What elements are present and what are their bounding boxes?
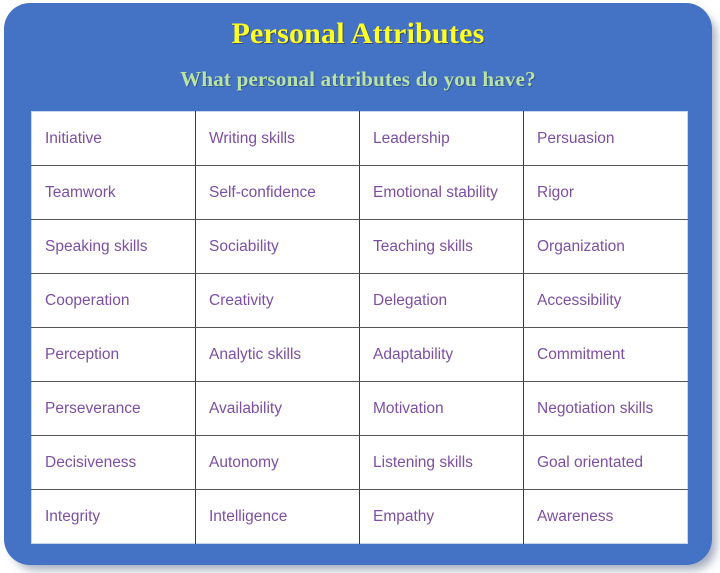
attribute-label: Listening skills bbox=[373, 453, 523, 473]
attribute-cell[interactable]: Integrity bbox=[32, 490, 196, 544]
attribute-cell[interactable]: Goal orientated bbox=[524, 436, 688, 490]
attribute-cell[interactable]: Intelligence bbox=[196, 490, 360, 544]
attribute-label: Cooperation bbox=[45, 291, 195, 311]
table-row: Perception Analytic skills Adaptability … bbox=[32, 328, 688, 382]
attribute-cell[interactable]: Writing skills bbox=[196, 112, 360, 166]
attributes-table: Initiative Writing skills Leadership Per… bbox=[31, 111, 688, 544]
attribute-cell[interactable]: Persuasion bbox=[524, 112, 688, 166]
attribute-label: Availability bbox=[209, 399, 359, 419]
table-row: Speaking skills Sociability Teaching ski… bbox=[32, 220, 688, 274]
slide-card: Personal Attributes What personal attrib… bbox=[4, 3, 712, 565]
attribute-label: Commitment bbox=[537, 345, 687, 365]
attribute-cell[interactable]: Initiative bbox=[32, 112, 196, 166]
attribute-label: Organization bbox=[537, 237, 687, 257]
attribute-cell[interactable]: Self-confidence bbox=[196, 166, 360, 220]
page-title: Personal Attributes bbox=[4, 17, 712, 51]
attribute-label: Leadership bbox=[373, 129, 523, 149]
attribute-label: Delegation bbox=[373, 291, 523, 311]
attribute-label: Teamwork bbox=[45, 183, 195, 203]
table-row: Teamwork Self-confidence Emotional stabi… bbox=[32, 166, 688, 220]
attribute-cell[interactable]: Accessibility bbox=[524, 274, 688, 328]
attribute-label: Emotional stability bbox=[373, 183, 523, 203]
attribute-cell[interactable]: Decisiveness bbox=[32, 436, 196, 490]
attribute-cell[interactable]: Speaking skills bbox=[32, 220, 196, 274]
table-row: Perseverance Availability Motivation Neg… bbox=[32, 382, 688, 436]
attribute-label: Rigor bbox=[537, 183, 687, 203]
attribute-cell[interactable]: Empathy bbox=[360, 490, 524, 544]
attribute-cell[interactable]: Negotiation skills bbox=[524, 382, 688, 436]
attribute-cell[interactable]: Motivation bbox=[360, 382, 524, 436]
page-subtitle: What personal attributes do you have? bbox=[4, 67, 712, 92]
attribute-cell[interactable]: Organization bbox=[524, 220, 688, 274]
attribute-label: Integrity bbox=[45, 507, 195, 527]
attribute-cell[interactable]: Perception bbox=[32, 328, 196, 382]
attribute-cell[interactable]: Availability bbox=[196, 382, 360, 436]
table-row: Cooperation Creativity Delegation Access… bbox=[32, 274, 688, 328]
attribute-cell[interactable]: Perseverance bbox=[32, 382, 196, 436]
attribute-label: Motivation bbox=[373, 399, 523, 419]
attribute-cell[interactable]: Cooperation bbox=[32, 274, 196, 328]
attribute-label: Negotiation skills bbox=[537, 399, 687, 419]
attribute-cell[interactable]: Teamwork bbox=[32, 166, 196, 220]
attribute-label: Adaptability bbox=[373, 345, 523, 365]
attribute-cell[interactable]: Autonomy bbox=[196, 436, 360, 490]
attribute-cell[interactable]: Analytic skills bbox=[196, 328, 360, 382]
attribute-label: Sociability bbox=[209, 237, 359, 257]
attribute-label: Self-confidence bbox=[209, 183, 359, 203]
attribute-label: Perseverance bbox=[45, 399, 195, 419]
attribute-label: Teaching skills bbox=[373, 237, 523, 257]
attribute-label: Persuasion bbox=[537, 129, 687, 149]
attribute-label: Creativity bbox=[209, 291, 359, 311]
attribute-cell[interactable]: Leadership bbox=[360, 112, 524, 166]
attribute-cell[interactable]: Rigor bbox=[524, 166, 688, 220]
attribute-label: Empathy bbox=[373, 507, 523, 527]
attribute-cell[interactable]: Emotional stability bbox=[360, 166, 524, 220]
attribute-cell[interactable]: Creativity bbox=[196, 274, 360, 328]
attribute-label: Perception bbox=[45, 345, 195, 365]
attribute-cell[interactable]: Sociability bbox=[196, 220, 360, 274]
attribute-cell[interactable]: Listening skills bbox=[360, 436, 524, 490]
attribute-label: Autonomy bbox=[209, 453, 359, 473]
table-row: Initiative Writing skills Leadership Per… bbox=[32, 112, 688, 166]
attributes-table-body: Initiative Writing skills Leadership Per… bbox=[32, 112, 688, 544]
attribute-cell[interactable]: Delegation bbox=[360, 274, 524, 328]
attribute-label: Writing skills bbox=[209, 129, 359, 149]
attribute-label: Decisiveness bbox=[45, 453, 195, 473]
attribute-label: Intelligence bbox=[209, 507, 359, 527]
attribute-label: Initiative bbox=[45, 129, 195, 149]
attribute-label: Goal orientated bbox=[537, 453, 687, 473]
attribute-label: Accessibility bbox=[537, 291, 687, 311]
attribute-cell[interactable]: Awareness bbox=[524, 490, 688, 544]
attribute-label: Speaking skills bbox=[45, 237, 195, 257]
table-row: Integrity Intelligence Empathy Awareness bbox=[32, 490, 688, 544]
attribute-cell[interactable]: Adaptability bbox=[360, 328, 524, 382]
attribute-cell[interactable]: Commitment bbox=[524, 328, 688, 382]
attribute-cell[interactable]: Teaching skills bbox=[360, 220, 524, 274]
attribute-label: Analytic skills bbox=[209, 345, 359, 365]
attribute-label: Awareness bbox=[537, 507, 687, 527]
table-row: Decisiveness Autonomy Listening skills G… bbox=[32, 436, 688, 490]
